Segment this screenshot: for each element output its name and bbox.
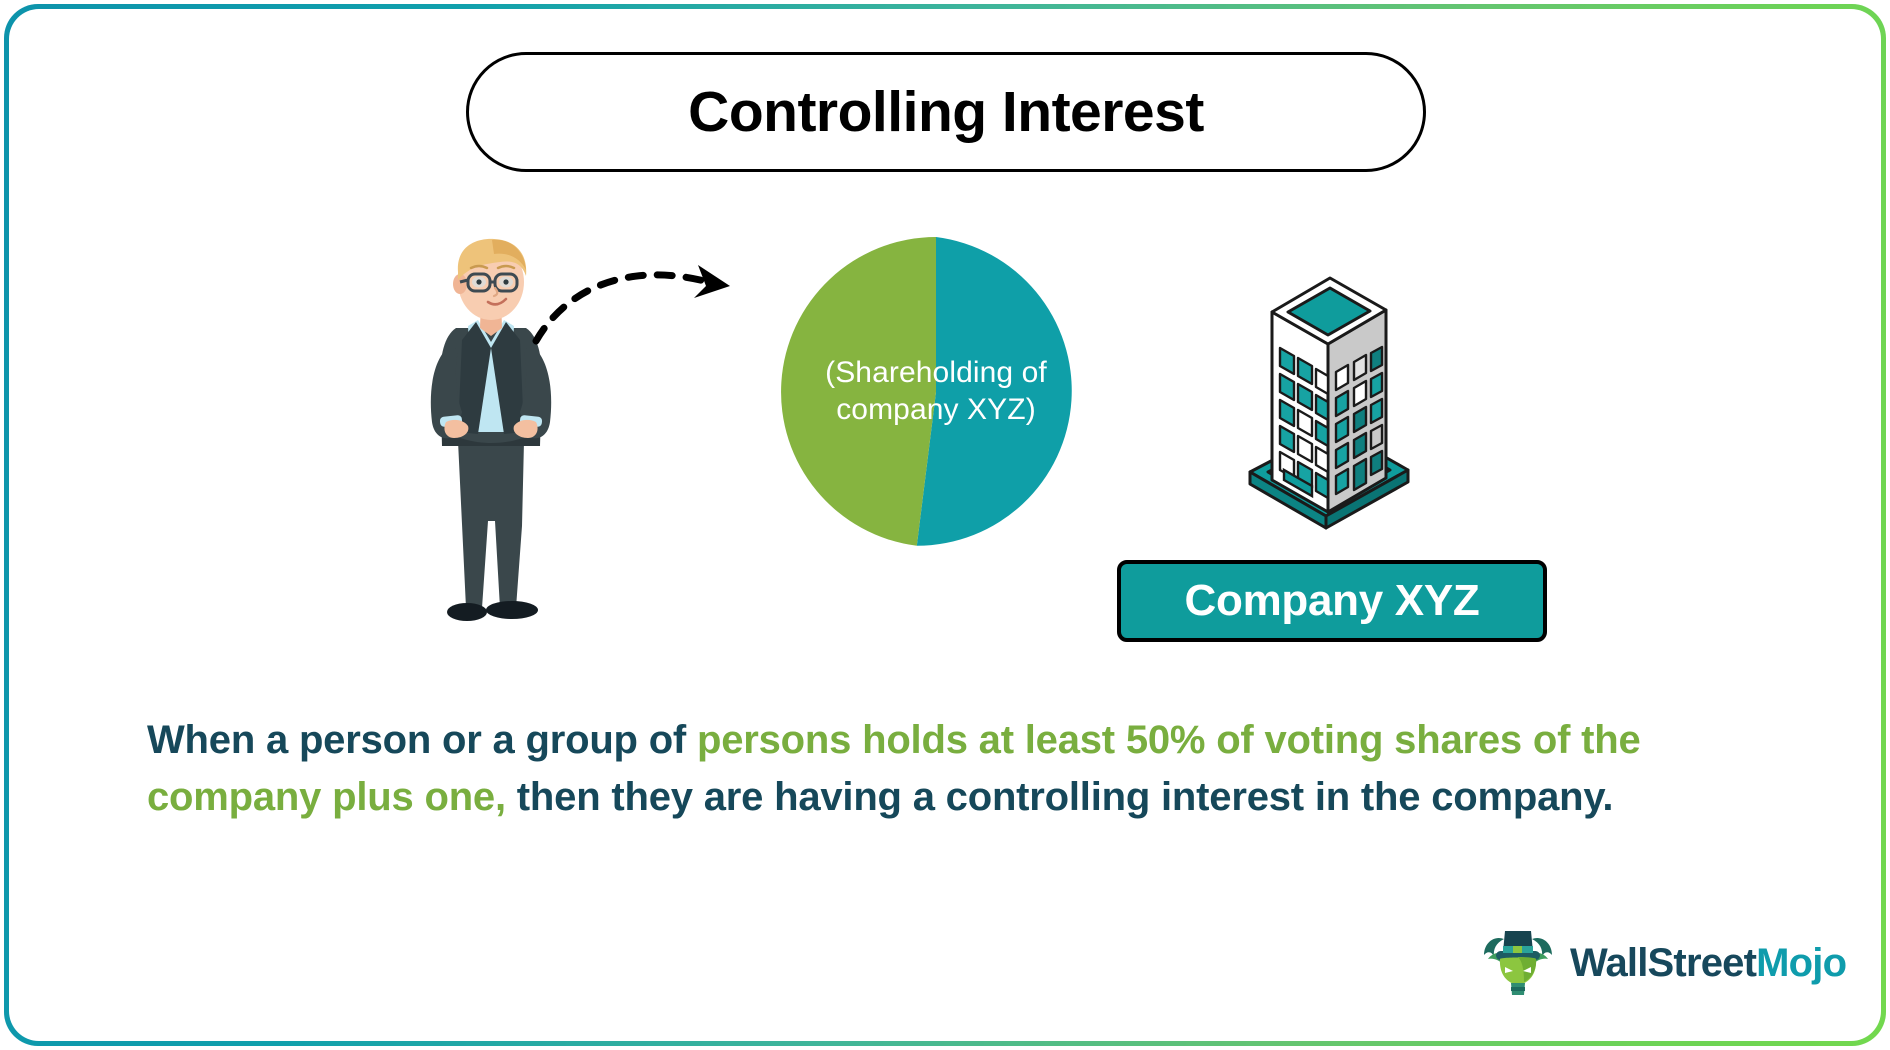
company-xyz-button[interactable]: Company XYZ (1117, 560, 1547, 642)
content-canvas: Controlling Interest (0, 0, 1890, 1050)
logo-wordmark: WallStreetMojo (1570, 941, 1846, 986)
page-title: Controlling Interest (688, 84, 1204, 141)
pie-slice-remaining (917, 237, 1072, 546)
description-part-1: When a person or a group of (147, 718, 697, 762)
pie-slice-controlling (781, 237, 936, 546)
infographic-root: Controlling Interest (0, 0, 1890, 1050)
office-building-illustration (1238, 240, 1418, 530)
description-text: When a person or a group of persons hold… (147, 712, 1767, 826)
company-xyz-label: Company XYZ (1185, 576, 1480, 626)
shareholding-pie-chart (781, 237, 1091, 547)
bull-logo-icon (1480, 925, 1556, 1001)
title-pill: Controlling Interest (466, 52, 1426, 172)
dashed-curved-arrow-icon (530, 255, 760, 355)
logo-text-wallstreet: WallStreet (1570, 941, 1756, 985)
logo-text-mojo: Mojo (1756, 941, 1846, 985)
description-part-2: then they are having a controlling inter… (506, 775, 1613, 819)
wallstreetmojo-logo[interactable]: WallStreetMojo (1480, 925, 1846, 1001)
